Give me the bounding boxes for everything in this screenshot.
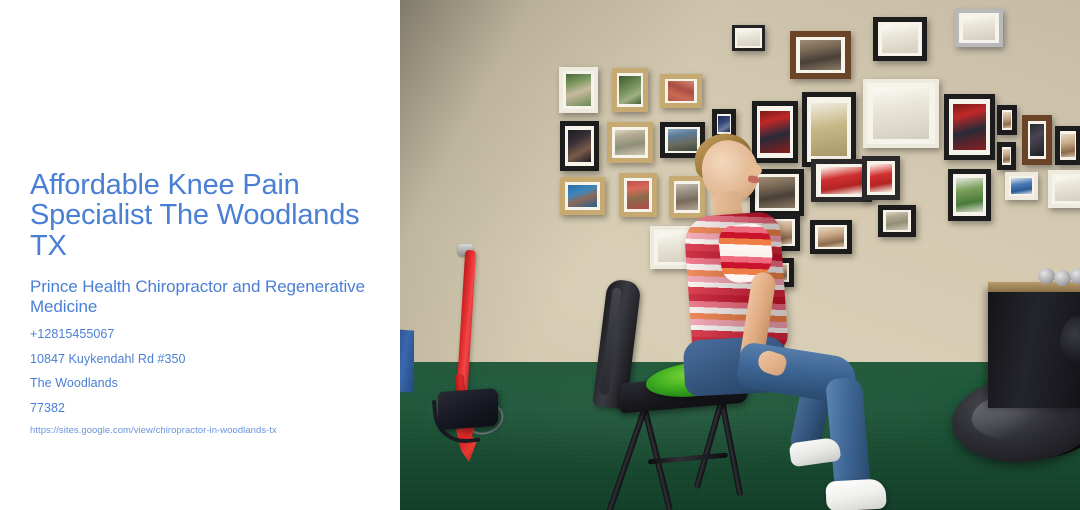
photo-frame-signed-set (863, 79, 939, 148)
frame-photo (568, 130, 592, 163)
frame-photo (615, 130, 645, 155)
photo-frame-shadowbox (1022, 115, 1052, 165)
photo-frame-pool (560, 177, 605, 215)
chair-leg-rear-left (606, 401, 650, 510)
frame-photo (1030, 124, 1045, 155)
photo-frame-portrait-3 (997, 142, 1016, 170)
frame-photo (963, 16, 996, 41)
photo-frame-portrait-1 (997, 105, 1017, 135)
photo-frame-runner-1 (559, 67, 598, 113)
frame-photo (1055, 177, 1080, 202)
seated-woman-exercise (680, 140, 910, 510)
photo-frame-magazine-2 (944, 94, 995, 160)
frame-photo (619, 76, 640, 104)
photo-frame-cert-1 (873, 17, 927, 61)
business-name: Prince Health Chiropractor and Regenerat… (30, 277, 375, 317)
frame-photo (882, 25, 918, 53)
dumbbell-icon-1 (1038, 268, 1055, 284)
frame-photo (953, 104, 987, 150)
chair-leg-front-left (640, 401, 673, 510)
frame-photo (627, 181, 650, 209)
photo-frame-runner-2 (612, 68, 648, 112)
frame-photo (566, 74, 591, 105)
business-postal-code: 77382 (30, 402, 375, 415)
frame-photo (1061, 134, 1074, 158)
frame-photo (873, 88, 929, 138)
frame-photo (956, 178, 983, 212)
photo-frame-track (660, 74, 702, 108)
business-website-link[interactable]: https://sites.google.com/view/chiropract… (30, 426, 375, 436)
business-street-address: 10847 Kuykendahl Rd #350 (30, 353, 375, 366)
business-city: The Woodlands (30, 377, 375, 390)
photo-frame-portrait-2 (1055, 126, 1080, 165)
frame-photo (800, 40, 840, 70)
clinic-exercise-photo (400, 0, 1080, 510)
photo-frame-team-dark (790, 31, 851, 79)
photo-frame-team-1 (607, 122, 653, 163)
frame-photo (1011, 178, 1032, 194)
frame-photo (737, 30, 759, 46)
frame-photo (1003, 149, 1010, 164)
person-shin-jeans (825, 377, 870, 490)
person-shoe-near (825, 478, 886, 510)
business-info-panel: Affordable Knee Pain Specialist The Wood… (0, 0, 400, 510)
business-phone[interactable]: +12815455067 (30, 328, 375, 341)
frame-photo (668, 81, 694, 101)
business-info-block: Affordable Knee Pain Specialist The Wood… (30, 170, 375, 436)
black-bag (438, 388, 498, 430)
dumbbell-icon-3 (1070, 268, 1080, 284)
photo-frame-medal-top (732, 25, 765, 51)
photo-frame-doc-1 (1048, 170, 1080, 208)
frame-photo (1003, 112, 1011, 128)
photo-frame-blue-1 (1005, 172, 1038, 200)
blue-mat (400, 329, 414, 392)
photo-frame-crowd-1 (619, 173, 657, 217)
photo-frame-cert-2 (955, 9, 1003, 47)
frame-photo (568, 185, 597, 208)
page-root: Affordable Knee Pain Specialist The Wood… (0, 0, 1080, 510)
dumbbell-icon-2 (1054, 270, 1071, 286)
page-title: Affordable Knee Pain Specialist The Wood… (30, 170, 375, 261)
photo-frame-green-1 (948, 169, 991, 221)
frame-photo (718, 116, 730, 132)
photo-frame-night-race (560, 121, 599, 171)
